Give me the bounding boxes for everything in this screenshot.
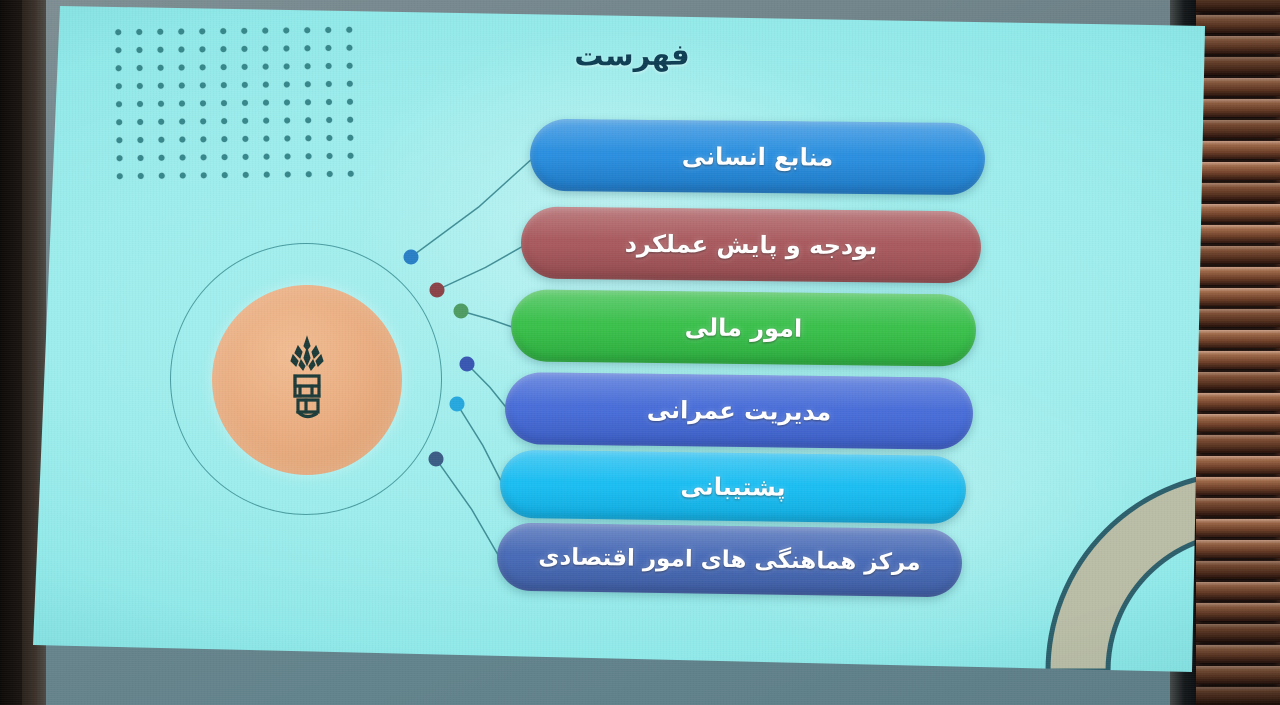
grid-dot [263, 154, 269, 160]
grid-dot [178, 29, 184, 35]
grid-dot [158, 137, 164, 143]
blind-slat [1196, 204, 1280, 222]
grid-dot [220, 82, 226, 88]
grid-dot [179, 155, 185, 161]
grid-dot [242, 136, 248, 142]
grid-dot [157, 101, 163, 107]
grid-dot [346, 27, 352, 33]
connector-line [437, 245, 525, 290]
grid-dot [241, 28, 247, 34]
grid-dot [242, 154, 248, 160]
blind-slat [1196, 645, 1280, 663]
grid-dot [305, 117, 311, 123]
grid-dot [326, 117, 332, 123]
grid-dot [221, 118, 227, 124]
blind-slat [1196, 183, 1280, 201]
toc-item-label: بودجه و پایش عملکرد [625, 230, 878, 261]
toc-item-pill[interactable]: بودجه و پایش عملکرد [521, 207, 982, 284]
grid-dot [221, 136, 227, 142]
grid-dot [263, 136, 269, 142]
grid-dot [325, 81, 331, 87]
grid-dot [136, 101, 142, 107]
grid-dot [347, 135, 353, 141]
connector-line [461, 311, 515, 328]
toc-item-pill[interactable]: مدیریت عمرانی [505, 372, 974, 450]
grid-dot [179, 173, 185, 179]
blind-slat [1196, 15, 1280, 33]
grid-dot [262, 100, 268, 106]
grid-dot [262, 28, 268, 34]
grid-dot [304, 99, 310, 105]
connector-node-dot[interactable] [454, 304, 469, 319]
grid-dot [178, 83, 184, 89]
grid-dot [347, 117, 353, 123]
grid-dot [326, 153, 332, 159]
connector-node-dot[interactable] [450, 397, 465, 412]
grid-dot [347, 171, 353, 177]
connector-line [457, 404, 504, 487]
toc-item-pill[interactable]: منابع انسانی [530, 119, 986, 195]
blind-slat [1196, 456, 1280, 474]
grid-dot [158, 155, 164, 161]
grid-dot [137, 137, 143, 143]
grid-dot [283, 27, 289, 33]
blind-slat [1196, 687, 1280, 705]
grid-dot [115, 29, 121, 35]
organization-emblem-icon [284, 334, 330, 426]
toc-item-pill[interactable]: امور مالی [511, 289, 977, 366]
grid-dot [200, 118, 206, 124]
grid-dot [325, 27, 331, 33]
grid-dot [199, 28, 205, 34]
blind-slat [1196, 120, 1280, 138]
blind-slat [1196, 309, 1280, 327]
grid-dot [262, 82, 268, 88]
toc-item-pill[interactable]: پشتیبانی [500, 450, 967, 524]
grid-dot [305, 135, 311, 141]
connector-line [436, 459, 501, 560]
grid-dot [346, 99, 352, 105]
grid-dot [199, 82, 205, 88]
hub-disc [212, 285, 402, 475]
blind-slat [1196, 561, 1280, 579]
grid-dot [220, 28, 226, 34]
projection-screen: فهرست [0, 0, 1280, 705]
grid-dot [136, 29, 142, 35]
grid-dot [263, 118, 269, 124]
grid-dot [158, 119, 164, 125]
toc-item-label: مدیریت عمرانی [647, 396, 832, 426]
window-blinds [1196, 0, 1280, 705]
blind-slat [1196, 477, 1280, 495]
grid-dot [283, 81, 289, 87]
blind-slat [1196, 603, 1280, 621]
grid-dot [178, 101, 184, 107]
blind-slat [1196, 288, 1280, 306]
blind-slat [1196, 0, 1280, 12]
grid-dot [179, 119, 185, 125]
blind-slat [1196, 351, 1280, 369]
grid-dot [137, 173, 143, 179]
center-hub [170, 243, 442, 515]
grid-dot [221, 154, 227, 160]
blind-slat [1196, 393, 1280, 411]
grid-dot [284, 135, 290, 141]
toc-item-label: پشتیبانی [680, 472, 786, 501]
blind-slat [1196, 414, 1280, 432]
grid-dot [304, 81, 310, 87]
blind-slat [1196, 540, 1280, 558]
grid-dot [137, 119, 143, 125]
grid-dot [326, 171, 332, 177]
grid-dot [284, 117, 290, 123]
grid-dot [221, 172, 227, 178]
blind-slat [1196, 435, 1280, 453]
toc-item-pill[interactable]: مرکز هماهنگی های امور اقتصادی [497, 523, 963, 598]
grid-dot [242, 172, 248, 178]
grid-dot [179, 137, 185, 143]
grid-dot [115, 83, 121, 89]
grid-dot [283, 99, 289, 105]
blind-slat [1196, 36, 1280, 54]
grid-dot [137, 155, 143, 161]
grid-dot [241, 100, 247, 106]
toc-item-label: منابع انسانی [682, 142, 834, 171]
photo-scene: فهرست [0, 0, 1280, 705]
grid-dot [199, 100, 205, 106]
blind-slat [1196, 372, 1280, 390]
grid-dot [241, 82, 247, 88]
blind-slat [1196, 162, 1280, 180]
grid-dot [284, 153, 290, 159]
grid-dot [157, 29, 163, 35]
grid-dot [115, 101, 121, 107]
blind-slat [1196, 267, 1280, 285]
blind-slat [1196, 246, 1280, 264]
toc-item-label: امور مالی [685, 313, 803, 342]
grid-dot [200, 172, 206, 178]
grid-dot [326, 135, 332, 141]
blind-slat [1196, 666, 1280, 684]
blind-slat [1196, 498, 1280, 516]
blind-slat [1196, 330, 1280, 348]
grid-dot [305, 153, 311, 159]
connector-line [411, 157, 534, 257]
blind-slat [1196, 99, 1280, 117]
grid-dot [347, 153, 353, 159]
blind-slat [1196, 141, 1280, 159]
blind-slat [1196, 519, 1280, 537]
blind-slat [1196, 225, 1280, 243]
connector-line [467, 364, 509, 411]
grid-dot [116, 137, 122, 143]
grid-dot [116, 173, 122, 179]
grid-dot [116, 155, 122, 161]
grid-dot [305, 171, 311, 177]
grid-dot [325, 99, 331, 105]
grid-dot [263, 172, 269, 178]
grid-dot [116, 119, 122, 125]
blind-slat [1196, 78, 1280, 96]
grid-dot [346, 81, 352, 87]
left-dark-frame-inner [0, 0, 22, 705]
grid-dot [242, 118, 248, 124]
grid-dot [284, 171, 290, 177]
grid-dot [200, 154, 206, 160]
grid-dot [200, 136, 206, 142]
connector-node-dot[interactable] [460, 357, 475, 372]
slide-canvas: فهرست [0, 0, 1280, 705]
grid-dot [136, 83, 142, 89]
toc-item-label: مرکز هماهنگی های امور اقتصادی [538, 544, 921, 576]
blind-slat [1196, 57, 1280, 75]
grid-dot [304, 27, 310, 33]
blind-slat [1196, 624, 1280, 642]
grid-dot [157, 83, 163, 89]
grid-dot [220, 100, 226, 106]
blind-slat [1196, 582, 1280, 600]
grid-dot [158, 173, 164, 179]
